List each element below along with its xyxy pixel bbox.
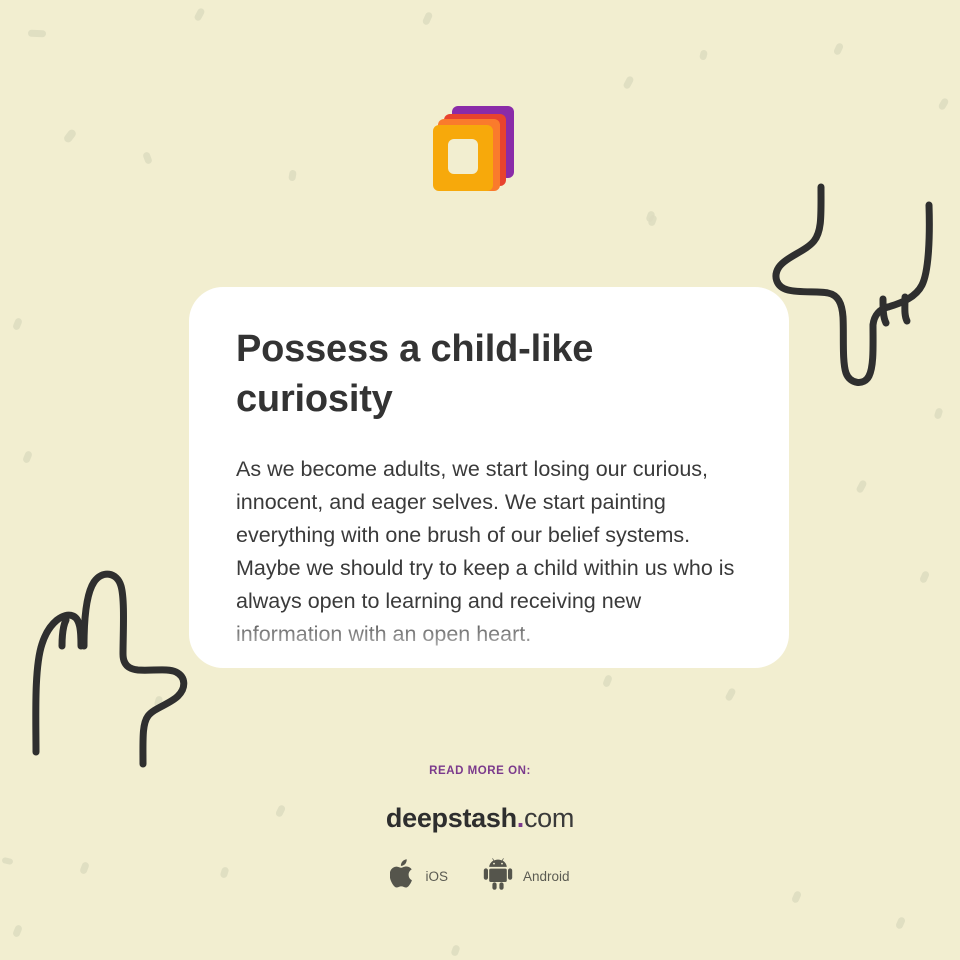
confetti-dash [12, 317, 23, 331]
confetti-dash [833, 42, 844, 56]
apple-icon [390, 858, 416, 895]
hand-pointing-down-illustration [770, 175, 950, 400]
confetti-dash [699, 49, 708, 60]
deepstash-wordmark[interactable]: deepstash.com [0, 803, 960, 834]
confetti-dash [422, 11, 434, 26]
confetti-dash [28, 30, 46, 38]
deepstash-logo[interactable] [0, 100, 960, 200]
app-store-badge-ios[interactable]: iOS [390, 858, 448, 895]
footer: READ MORE ON: deepstash.com iOS [0, 765, 960, 895]
wordmark-name: deepstash [386, 803, 517, 833]
confetti-dash [919, 570, 930, 584]
confetti-dash [22, 450, 33, 464]
hand-pointing-up-illustration [20, 560, 200, 785]
confetti-dash [855, 479, 867, 494]
read-more-label: READ MORE ON: [0, 765, 960, 777]
store-badge-label-ios: iOS [425, 869, 448, 884]
wordmark-dot: . [517, 803, 524, 833]
idea-body-text: As we become adults, we start losing our… [236, 453, 742, 652]
logo-stacked-cards-icon [432, 100, 528, 200]
confetti-dash [645, 210, 655, 223]
confetti-dash [933, 407, 943, 420]
confetti-dash [647, 214, 657, 227]
confetti-dash [602, 674, 613, 688]
wordmark-tld: com [524, 803, 574, 833]
confetti-dash [12, 924, 23, 938]
store-badge-label-android: Android [523, 869, 570, 884]
confetti-dash [895, 916, 906, 930]
idea-title: Possess a child-like curiosity [236, 325, 742, 425]
store-badges: iOS Android [0, 858, 960, 895]
confetti-dash [193, 7, 205, 22]
confetti-dash [622, 75, 634, 90]
confetti-dash [450, 944, 460, 957]
idea-card[interactable]: Possess a child-like curiosity As we bec… [189, 287, 789, 668]
android-icon [482, 858, 514, 895]
play-store-badge-android[interactable]: Android [482, 858, 570, 895]
confetti-dash [724, 687, 736, 702]
